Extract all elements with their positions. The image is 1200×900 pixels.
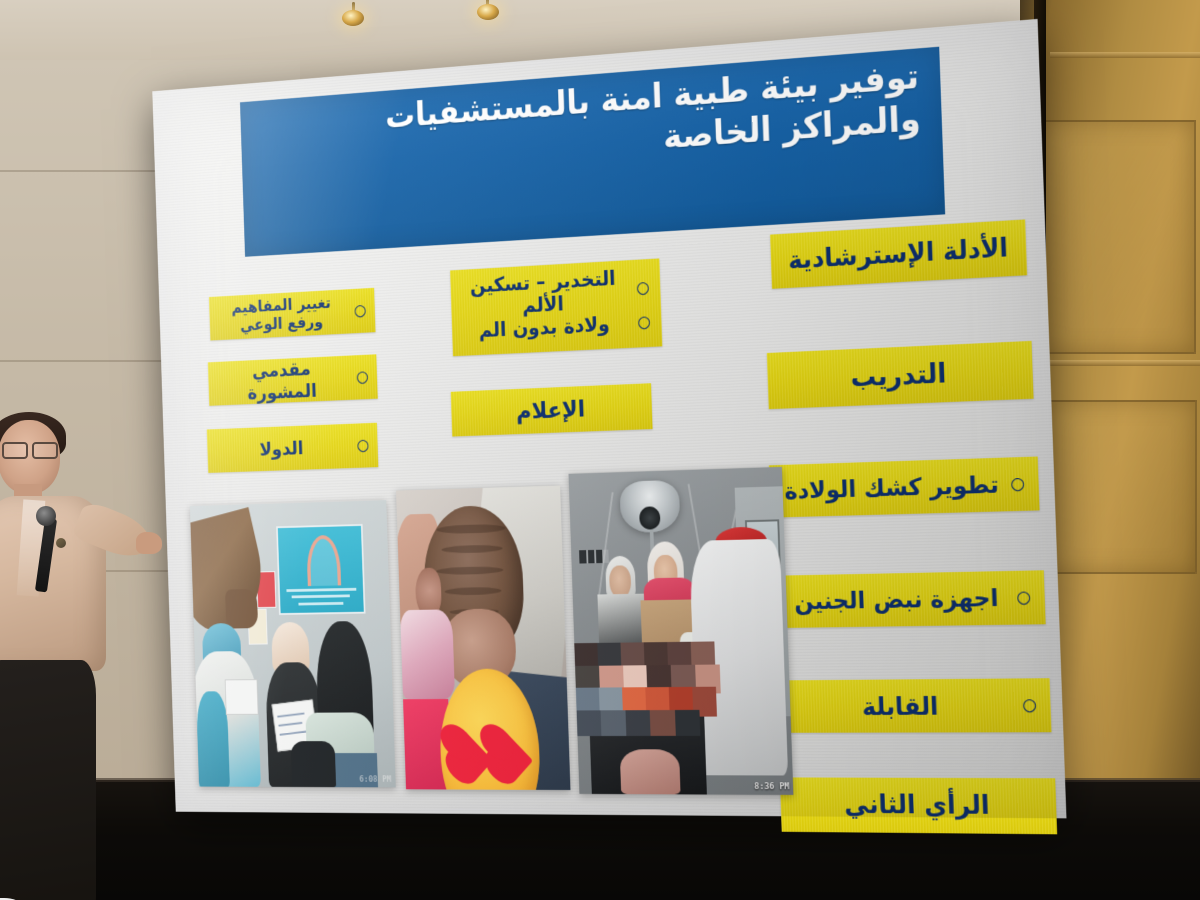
presenter-hand <box>136 532 162 554</box>
glasses-icon <box>2 442 56 455</box>
chip-doula[interactable]: ○ الدولا <box>207 423 379 473</box>
photo-content: 6:08 PM <box>190 500 396 787</box>
slide-title-bar: توفير بيئة طبية امنة بالمستشفيات والمراك… <box>240 47 945 257</box>
board-surface: توفير بيئة طبية امنة بالمستشفيات والمراك… <box>152 19 1066 818</box>
bullet-icon: ○ <box>356 369 369 385</box>
ceiling-spotlight <box>342 10 364 26</box>
photo-timestamp: 8:36 PM <box>754 782 789 792</box>
chip-guidelines[interactable]: الأدلة الإسترشادية <box>770 219 1027 288</box>
chip-change-concepts-awareness[interactable]: ○ تغيير المفاهيم ورفع الوعي <box>209 288 376 341</box>
bullet-icon: ○ <box>1016 589 1031 606</box>
photo-timestamp: 6:08 PM <box>359 775 391 784</box>
ceiling-spotlight <box>477 4 499 20</box>
bullet-icon: ○ <box>637 314 651 331</box>
slide-title: توفير بيئة طبية امنة بالمستشفيات والمراك… <box>258 56 921 186</box>
conference-room-scene: توفير بيئة طبية امنة بالمستشفيات والمراك… <box>0 0 1200 900</box>
chip-label: الدولا <box>215 435 348 462</box>
chip-label: القابلة <box>790 691 1013 721</box>
chip-midwife[interactable]: ○ القابلة <box>776 678 1051 733</box>
chip-label: الأدلة الإسترشادية <box>782 233 1015 276</box>
bullet-icon: ○ <box>356 437 369 453</box>
presenter-person <box>0 420 134 900</box>
bullet-icon: ○ <box>1022 697 1037 714</box>
chip-counsellors[interactable]: ○ مقدمي المشورة <box>208 354 378 406</box>
presenter-trousers <box>0 660 96 900</box>
bullet-icon: ○ <box>1010 475 1025 492</box>
door-rail <box>1050 52 1200 58</box>
photo-content: 8:36 PM <box>568 467 793 795</box>
projection-board: توفير بيئة طبية امنة بالمستشفيات والمراك… <box>152 19 1066 818</box>
chip-label: تغيير المفاهيم ورفع الوعي <box>217 293 346 336</box>
chip-label: اجهزة نبض الجنين <box>786 584 1007 615</box>
bullet-icon: ○ <box>354 303 367 319</box>
chip-fetal-heart-monitors[interactable]: ○ اجهزة نبض الجنين <box>773 570 1046 628</box>
counselling-session-photo: 6:08 PM <box>190 500 396 787</box>
chip-lines: ○ التخدير – تسكين الألم ○ ولادة بدون الم <box>461 265 652 350</box>
chip-label: مقدمي المشورة <box>216 356 349 406</box>
presenter-badge <box>56 538 66 548</box>
chip-develop-birth-booth[interactable]: ○ تطوير كشك الولادة <box>769 456 1040 517</box>
wall-switches <box>579 550 609 563</box>
chip-label: الرأي الثاني <box>793 790 1043 821</box>
newborn-photo <box>396 485 570 790</box>
pointing-hand <box>225 589 257 629</box>
delivery-room-photo: 8:36 PM <box>568 467 793 795</box>
microphone-head-icon <box>36 506 56 526</box>
wall-poster <box>276 524 365 615</box>
chip-label: الإعلام <box>461 393 641 427</box>
chip-label: تطوير كشك الولادة <box>782 471 1001 505</box>
bullet-icon: ○ <box>636 280 650 297</box>
door-rail <box>1050 360 1200 366</box>
slide-content: توفير بيئة طبية امنة بالمستشفيات والمراك… <box>152 19 1066 818</box>
chip-second-opinion[interactable]: الرأي الثاني <box>780 777 1057 834</box>
chip-media[interactable]: الإعلام <box>451 383 653 436</box>
chip-training[interactable]: التدريب <box>767 341 1034 409</box>
chip-anesthesia-group[interactable]: ○ التخدير – تسكين الألم ○ ولادة بدون الم <box>450 258 662 356</box>
chip-label: التدريب <box>778 355 1021 396</box>
photo-content <box>396 485 570 790</box>
